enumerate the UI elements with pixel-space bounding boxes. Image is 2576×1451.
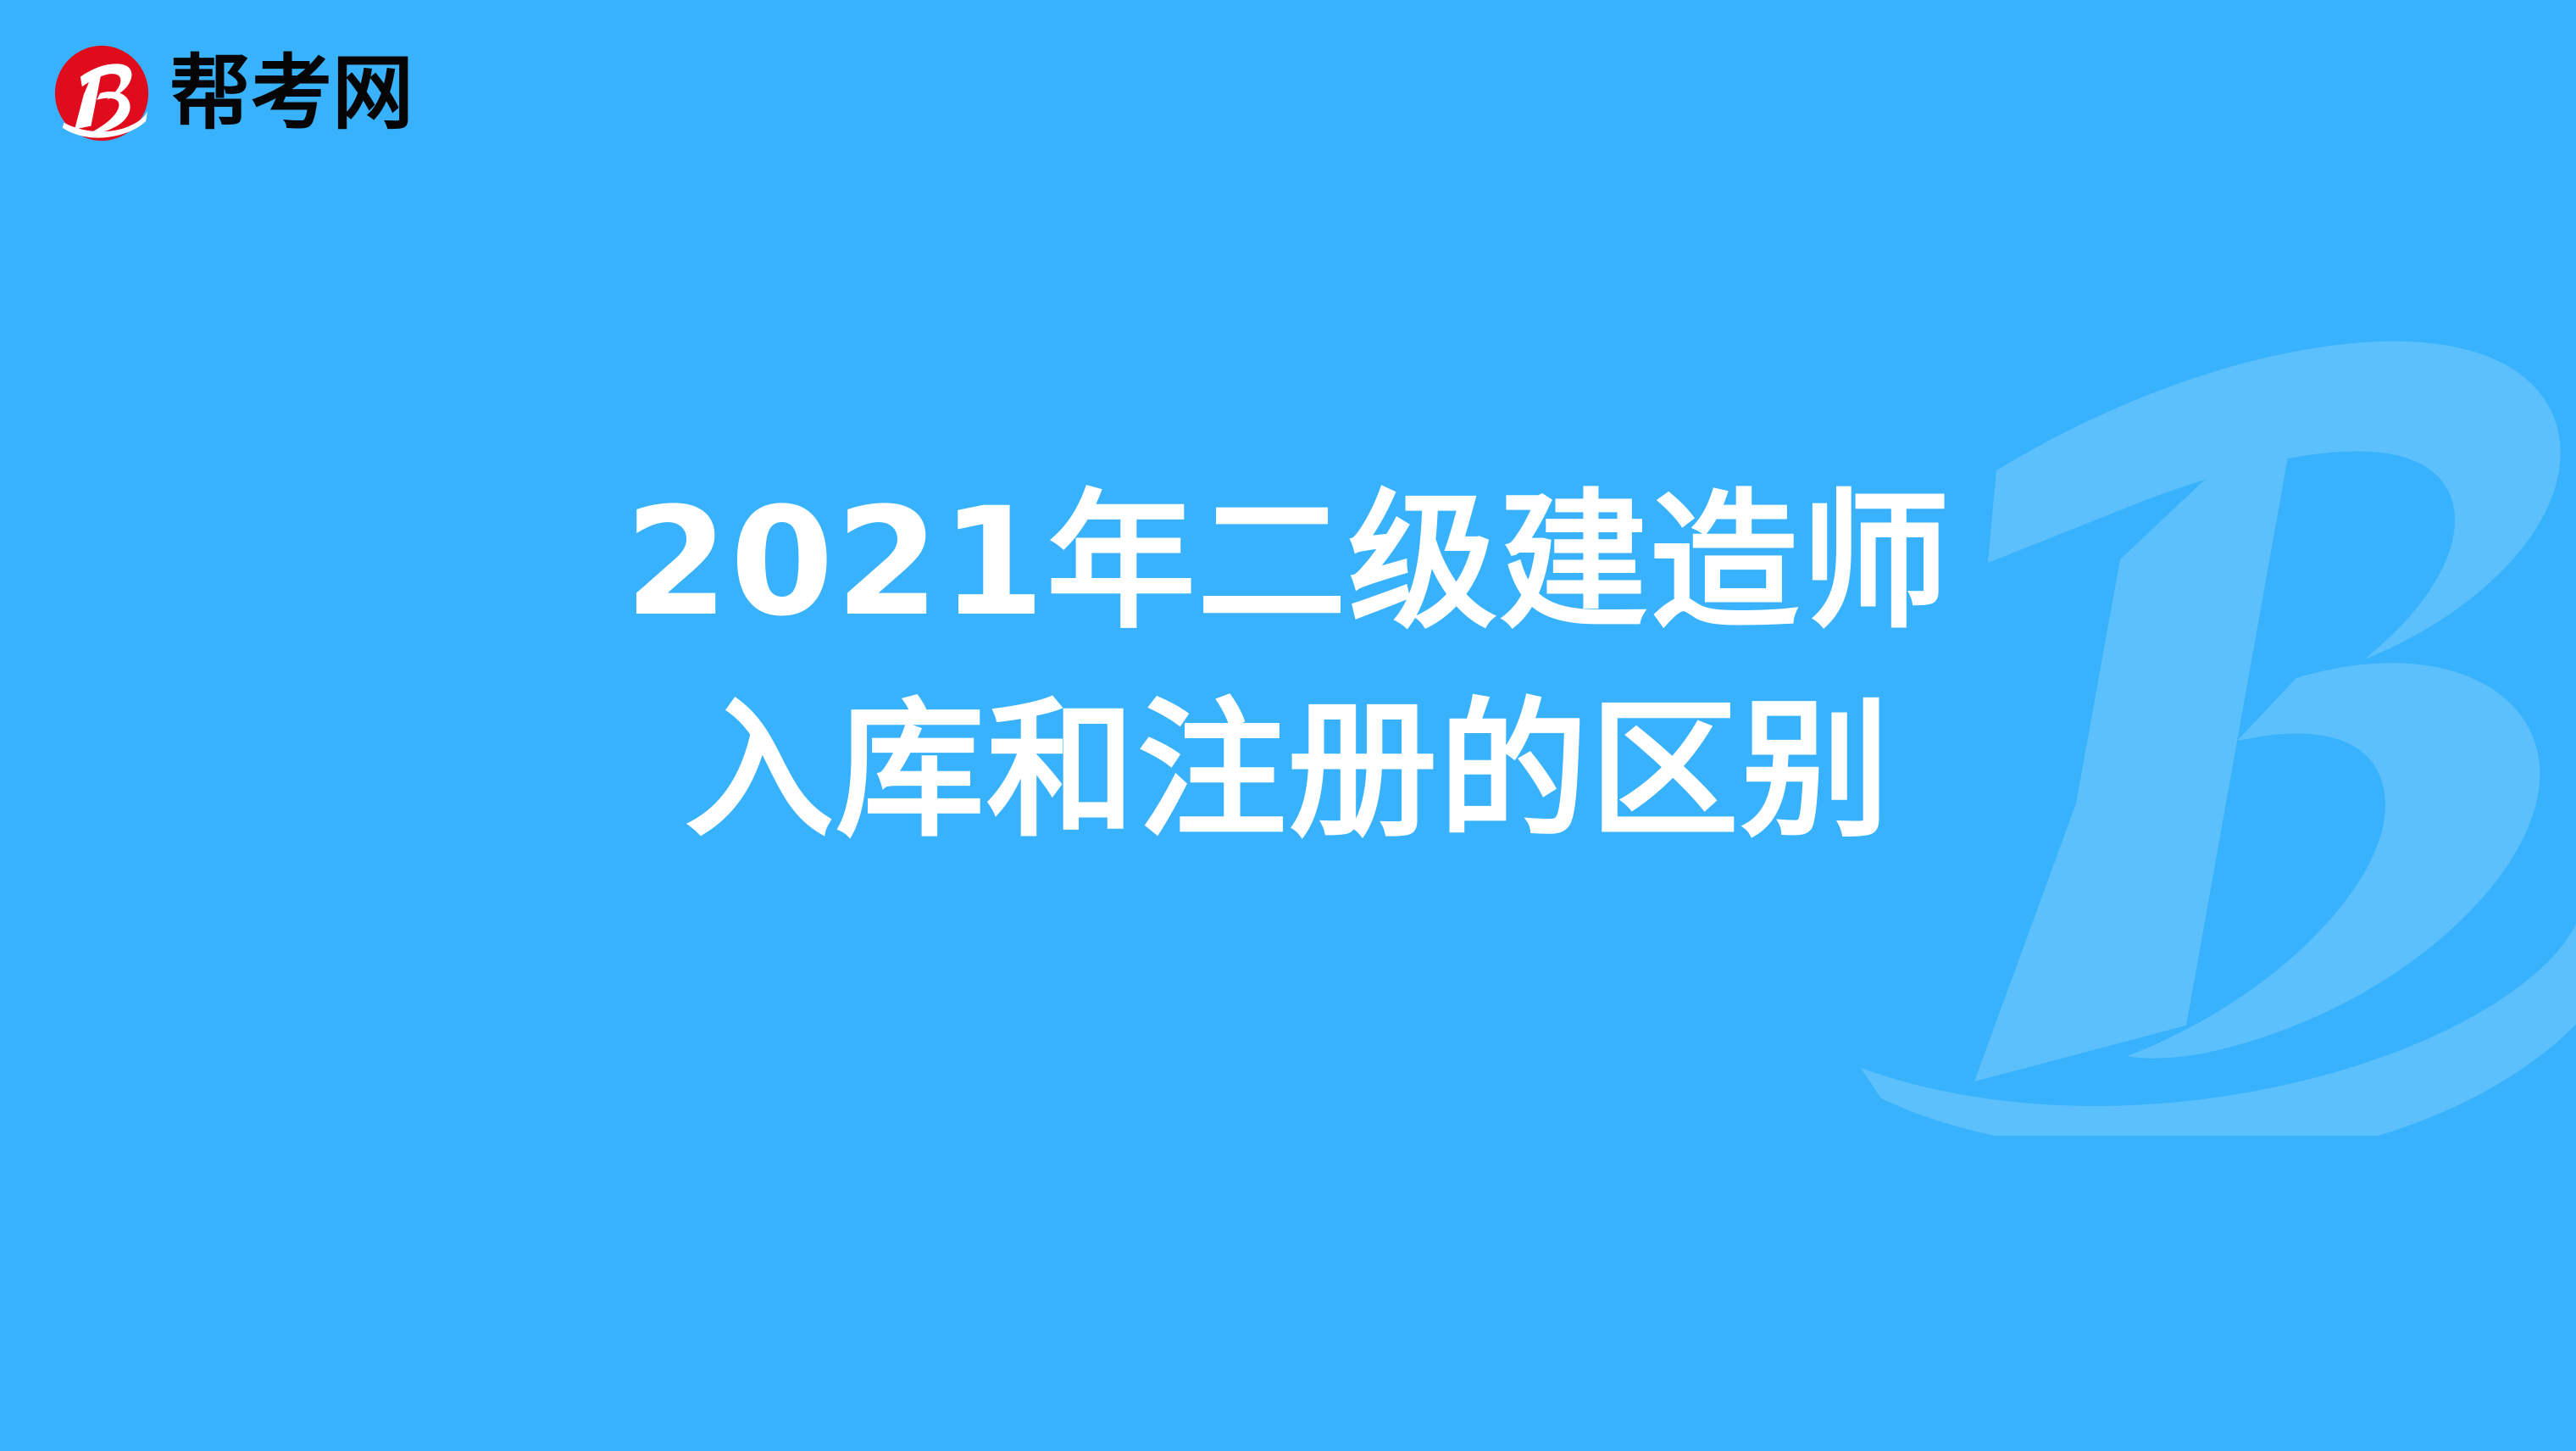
page-title-line-1: 2021年二级建造师	[0, 475, 2576, 651]
page-title: 2021年二级建造师 入库和注册的区别	[0, 475, 2576, 859]
brand-logo[interactable]: 帮考网	[53, 37, 414, 149]
brand-name: 帮考网	[169, 53, 414, 134]
brand-b-watermark-icon	[1822, 280, 2576, 1136]
banner-canvas: 帮考网 2021年二级建造师 入库和注册的区别	[0, 0, 2576, 1451]
brand-b-logo-icon	[53, 44, 151, 142]
page-title-line-2: 入库和注册的区别	[0, 683, 2576, 859]
